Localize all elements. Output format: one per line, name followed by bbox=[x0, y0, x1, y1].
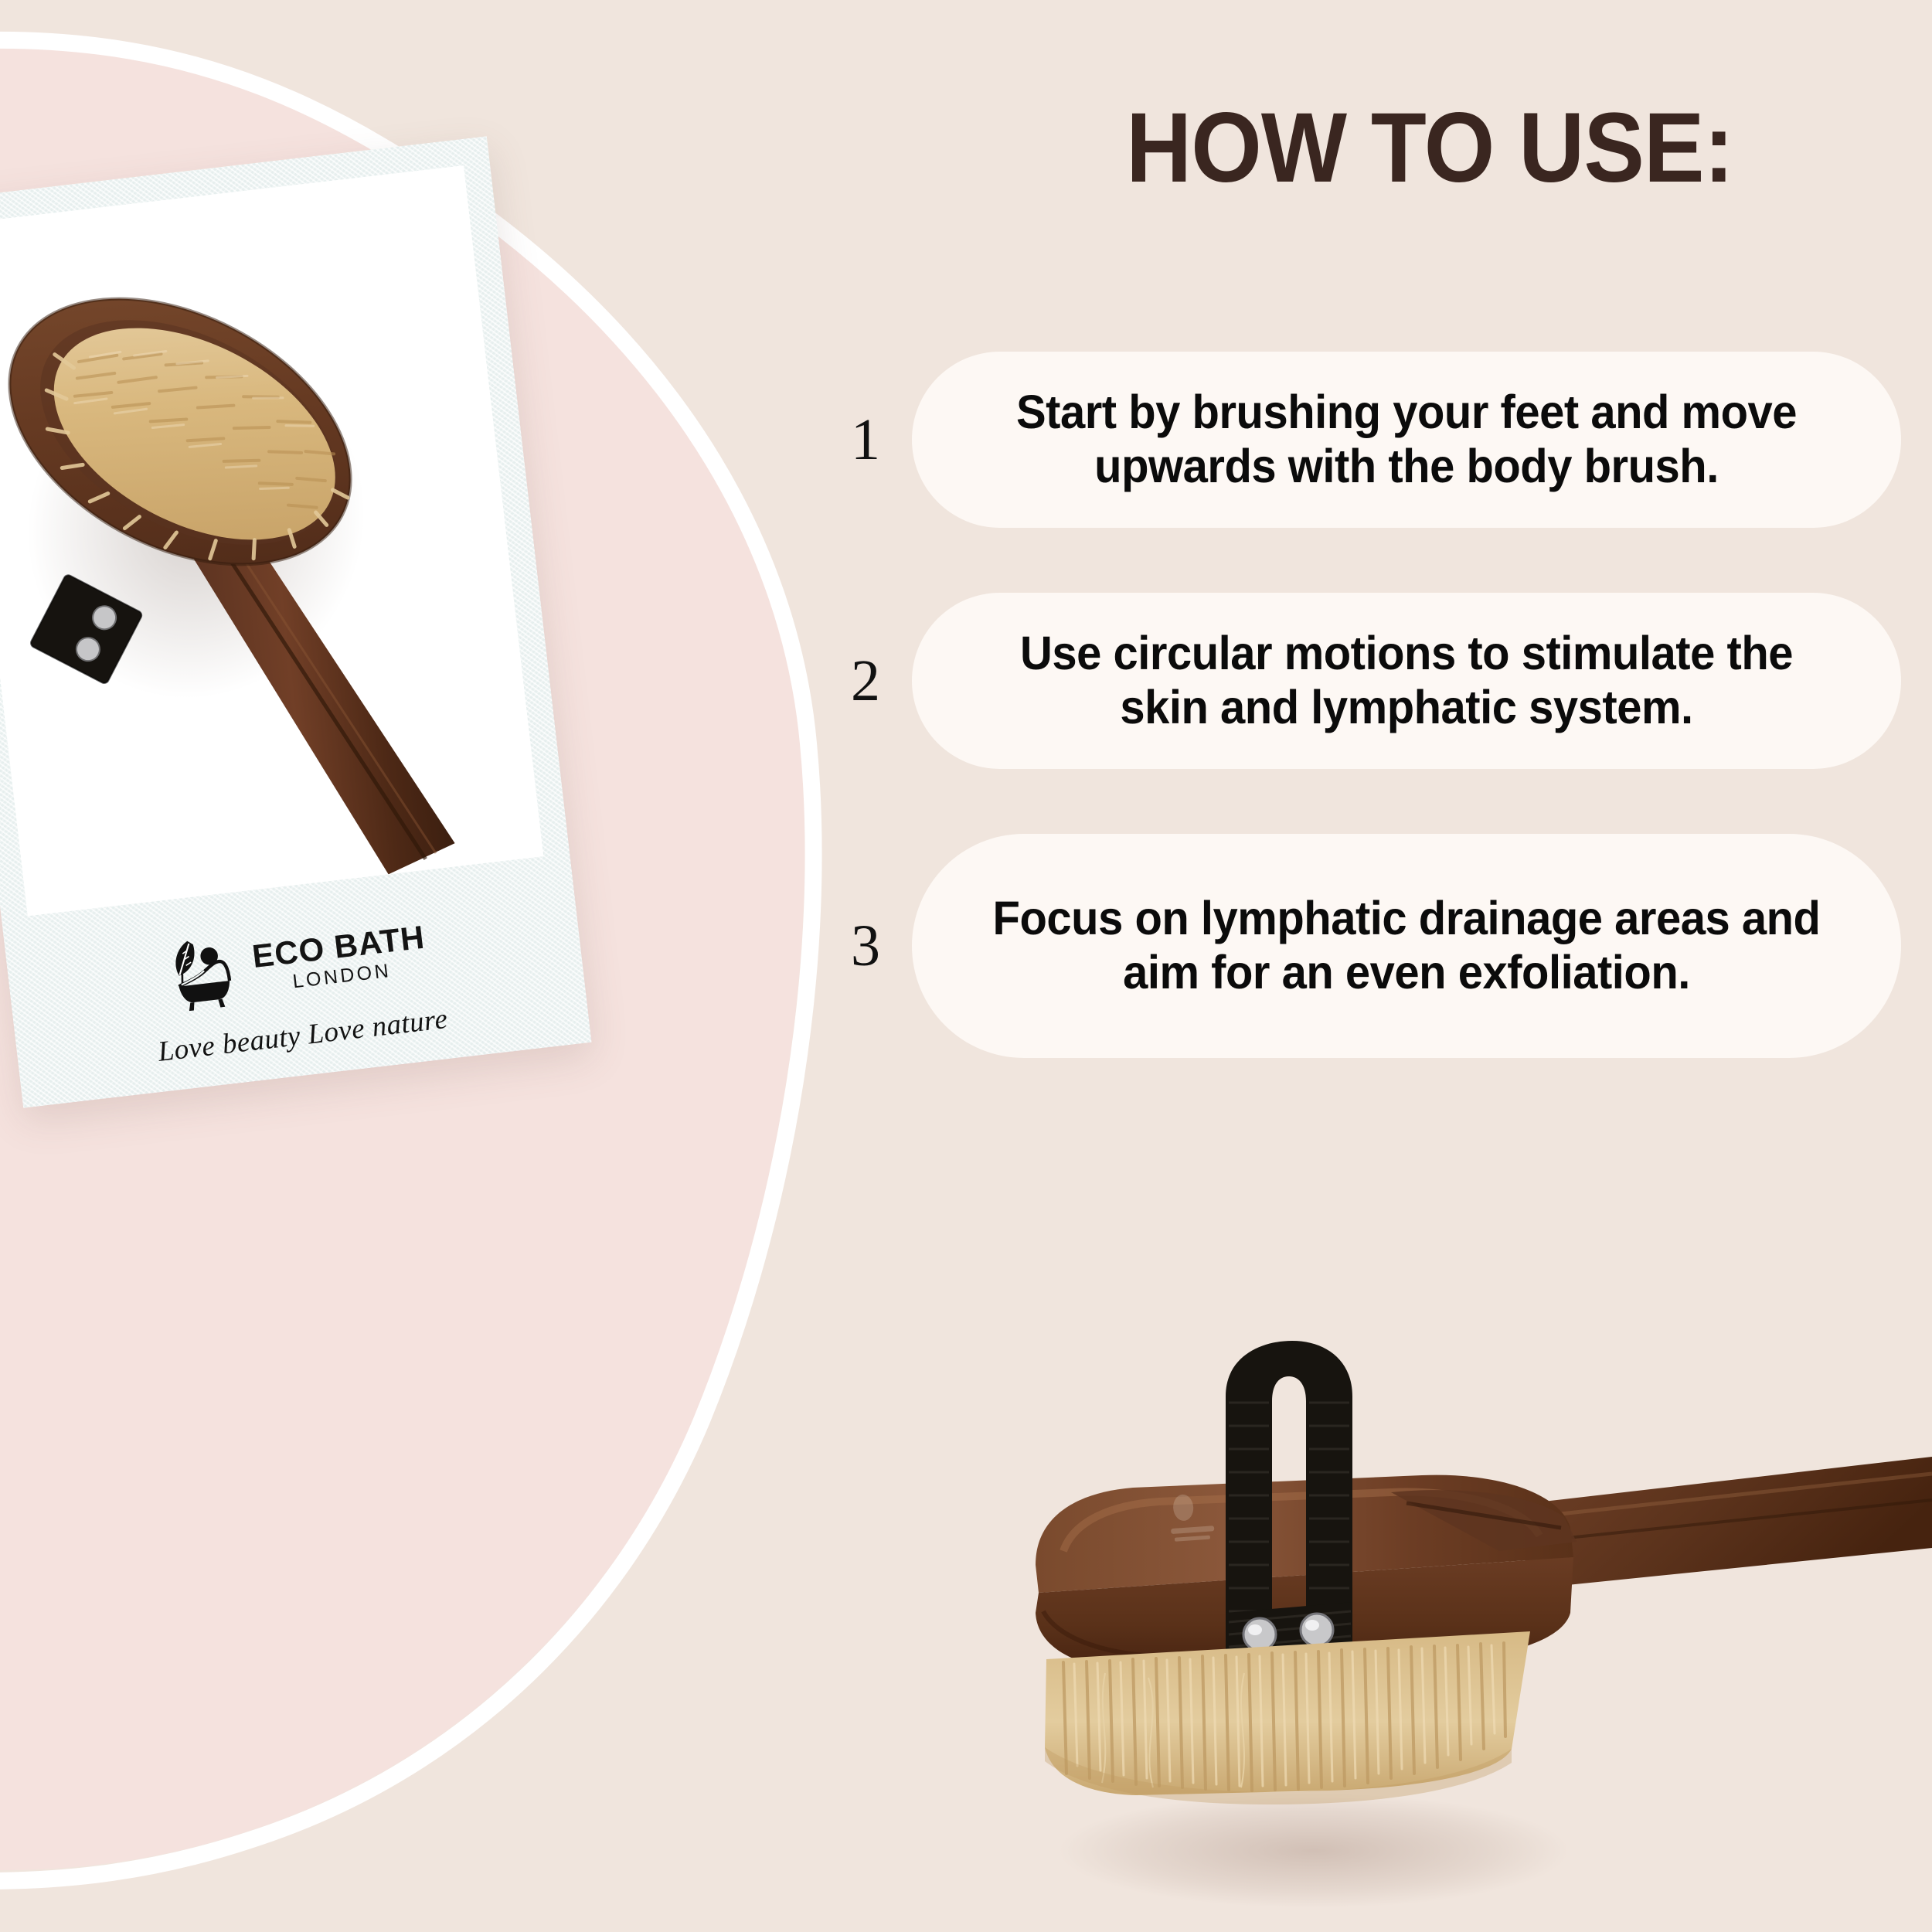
step-item: 2 Use circular motions to stimulate the … bbox=[819, 593, 1901, 769]
body-brush-illustration bbox=[0, 165, 543, 916]
bathtub-leaf-icon bbox=[158, 930, 247, 1019]
page-title: HOW TO USE: bbox=[985, 91, 1874, 205]
product-brush-illustration bbox=[989, 1310, 1932, 1932]
brush-handle bbox=[1522, 1457, 1932, 1590]
steps-list: 1 Start by brushing your feet and move u… bbox=[819, 352, 1901, 1058]
step-text: Use circular motions to stimulate the sk… bbox=[991, 627, 1821, 734]
step-card[interactable]: Focus on lymphatic drainage areas and ai… bbox=[912, 834, 1901, 1058]
polaroid-photo bbox=[0, 165, 543, 916]
product-shadow bbox=[1059, 1794, 1569, 1908]
step-item: 1 Start by brushing your feet and move u… bbox=[819, 352, 1901, 528]
polaroid-frame: ECO BATH LONDON Love beauty Love nature bbox=[0, 136, 591, 1107]
step-text: Start by brushing your feet and move upw… bbox=[991, 386, 1821, 493]
step-number: 3 bbox=[819, 917, 912, 975]
brand-logo: ECO BATH LONDON bbox=[158, 908, 430, 1019]
product-photo bbox=[989, 1310, 1932, 1932]
step-number: 2 bbox=[819, 651, 912, 710]
step-text: Focus on lymphatic drainage areas and ai… bbox=[991, 892, 1821, 999]
step-card[interactable]: Use circular motions to stimulate the sk… bbox=[912, 593, 1901, 769]
step-item: 3 Focus on lymphatic drainage areas and … bbox=[819, 834, 1901, 1058]
brush-bristles bbox=[1045, 1631, 1530, 1804]
step-card[interactable]: Start by brushing your feet and move upw… bbox=[912, 352, 1901, 528]
step-number: 1 bbox=[819, 410, 912, 469]
